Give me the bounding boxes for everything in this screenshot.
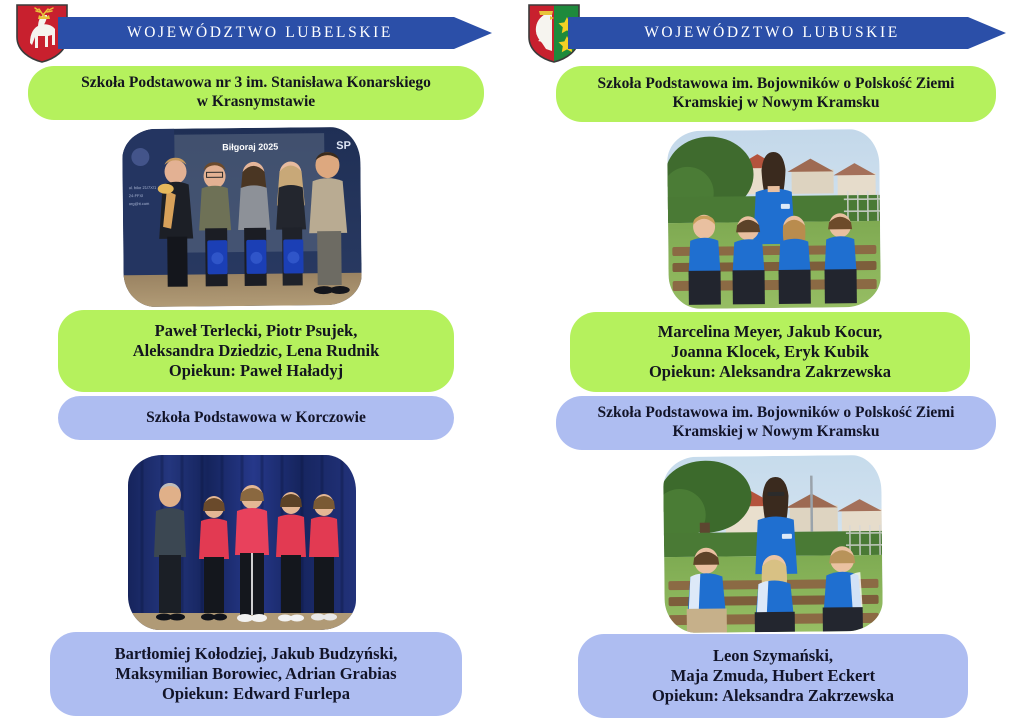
poster-page: WOJEWÓDZTWO LUBELSKIE Szkoła Podstawowa … [0,0,1024,724]
school-name-line: Szkoła Podstawowa im. Bojowników o Polsk… [598,404,955,423]
svg-text:Biłgoraj 2025: Biłgoraj 2025 [222,142,278,153]
team-members-pill-nowe-kramsko-1: Marcelina Meyer, Jakub Kocur, Joanna Klo… [570,312,970,392]
school-name-pill-nowe-kramsko-2: Szkoła Podstawowa im. Bojowników o Polsk… [556,396,996,450]
school-name-line: Kramskiej w Nowym Kramsku [598,423,955,442]
team-member-line: Joanna Klocek, Eryk Kubik [649,342,891,362]
team-coach-line: Opiekun: Edward Furlepa [115,684,398,704]
team-members-pill-nowe-kramsko-2: Leon Szymański, Maja Zmuda, Hubert Ecker… [578,634,968,718]
team-member-line: Aleksandra Dziedzic, Lena Rudnik [133,341,380,361]
team-member-line: Maksymilian Borowiec, Adrian Grabias [115,664,398,684]
team-member-line: Marcelina Meyer, Jakub Kocur, [649,322,891,342]
team-photo-korczow [128,455,356,630]
school-name-pill-nowe-kramsko-1: Szkoła Podstawowa im. Bojowników o Polsk… [556,66,996,122]
province-banner-lubelskie: WOJEWÓDZTWO LUBELSKIE [58,17,492,49]
province-column-lubelskie: WOJEWÓDZTWO LUBELSKIE Szkoła Podstawowa … [0,0,512,724]
school-name-pill-krasnystaw: Szkoła Podstawowa nr 3 im. Stanisława Ko… [28,66,484,120]
school-name-line: Szkoła Podstawowa im. Bojowników o Polsk… [598,75,955,94]
svg-text:ul. bike 21/7X/1: ul. bike 21/7X/1 [129,185,157,190]
svg-text:org@it.com: org@it.com [129,201,150,206]
team-member-line: Leon Szymański, [652,646,894,666]
team-coach-line: Opiekun: Paweł Haładyj [133,361,380,381]
team-members-pill-krasnystaw: Paweł Terlecki, Piotr Psujek, Aleksandra… [58,310,454,392]
province-header-lubuskie: WOJEWÓDZTWO LUBUSKIE [512,0,1024,66]
team-member-line: Bartłomiej Kołodziej, Jakub Budzyński, [115,644,398,664]
school-name-line: Szkoła Podstawowa nr 3 im. Stanisława Ko… [81,74,431,93]
team-member-line: Paweł Terlecki, Piotr Psujek, [133,321,380,341]
team-photo-nowe-kramsko-2 [663,455,883,633]
school-name-line: Szkoła Podstawowa w Korczowie [146,409,366,428]
province-column-lubuskie: WOJEWÓDZTWO LUBUSKIE Szkoła Podstawowa i… [512,0,1024,724]
school-name-line: Kramskiej w Nowym Kramsku [598,94,955,113]
team-coach-line: Opiekun: Aleksandra Zakrzewska [652,686,894,706]
team-member-line: Maja Zmuda, Hubert Eckert [652,666,894,686]
svg-text:24-FFXI: 24-FFXI [129,193,144,198]
province-banner-label: WOJEWÓDZTWO LUBUSKIE [644,24,930,42]
province-banner-label: WOJEWÓDZTWO LUBELSKIE [127,24,423,42]
province-banner-lubuskie: WOJEWÓDZTWO LUBUSKIE [568,17,1006,49]
svg-text:SP: SP [336,140,351,152]
team-members-pill-korczow: Bartłomiej Kołodziej, Jakub Budzyński, M… [50,632,462,716]
team-photo-nowe-kramsko-1 [667,129,881,309]
school-name-pill-korczow: Szkoła Podstawowa w Korczowie [58,396,454,440]
school-name-line: w Krasnymstawie [81,93,431,112]
team-photo-krasnystaw: Biłgoraj 2025 SP ul. bike 21/7X/124-FFXI… [122,127,362,307]
province-header-lubelskie: WOJEWÓDZTWO LUBELSKIE [0,0,512,66]
team-coach-line: Opiekun: Aleksandra Zakrzewska [649,362,891,382]
